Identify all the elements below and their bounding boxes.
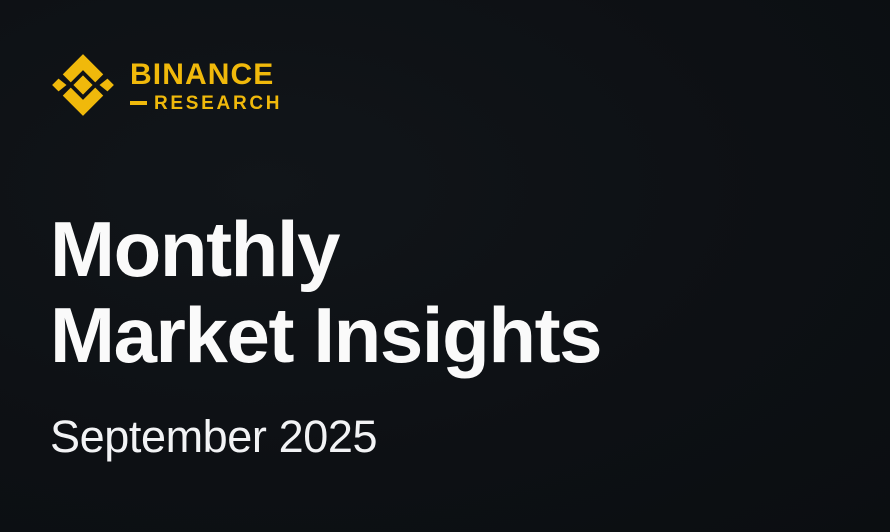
brand-wordmark: BINANCE RESEARCH (130, 58, 282, 113)
binance-diamond-icon (50, 52, 116, 118)
brand-name-binance: BINANCE (130, 60, 282, 90)
page-title-line-2: Market Insights (50, 292, 850, 378)
brand-dash-icon (130, 101, 147, 105)
page-title-line-1: Monthly (50, 206, 850, 292)
report-cover-slide: BINANCE RESEARCH Monthly Market Insights… (0, 0, 890, 532)
brand-name-research: RESEARCH (154, 94, 282, 113)
brand-research-line: RESEARCH (130, 94, 282, 113)
binance-research-logo[interactable]: BINANCE RESEARCH (50, 52, 282, 118)
page-subtitle-date: September 2025 (50, 414, 850, 459)
cover-title-block: Monthly Market Insights September 2025 (50, 206, 850, 459)
